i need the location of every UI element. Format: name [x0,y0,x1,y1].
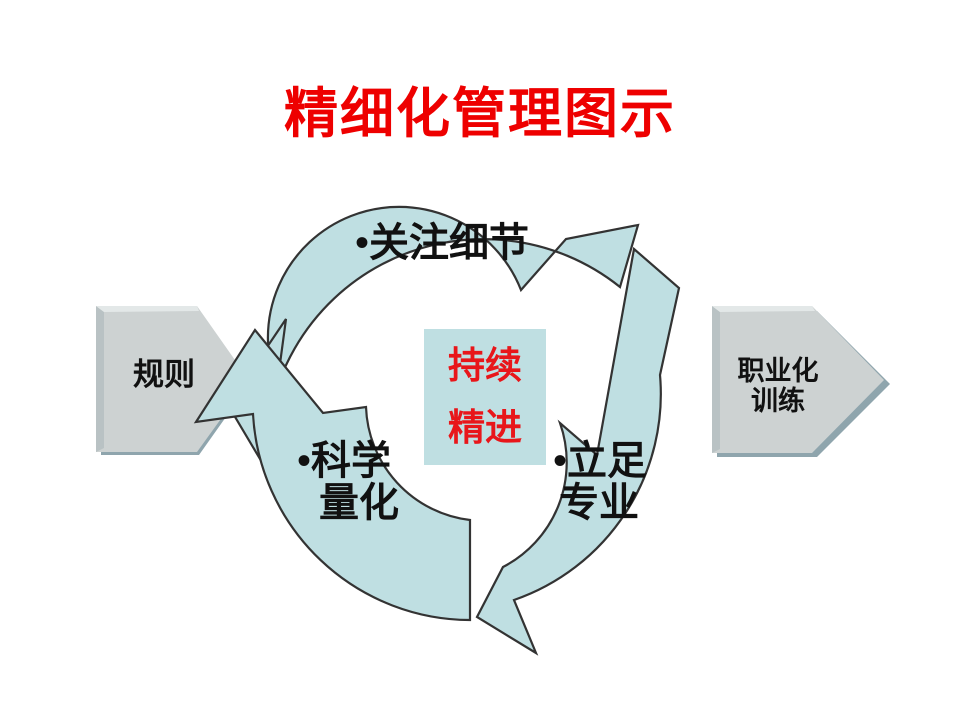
pentagon-left-top-edge [96,306,199,312]
cycle-label-focus-detail-text: 关注细节 [369,220,529,265]
pentagon-left-label: 规则 [104,358,224,393]
pentagon-left-bevel [96,306,104,452]
pentagon-right-line2: 训练 [751,386,805,416]
pentagon-right-label: 职业化 训练 [714,356,842,416]
cycle-label-based-on-profession: •立足 专业 [553,440,647,523]
pentagon-right-top-edge [712,306,815,312]
cycle-label-prof-line1: 立足 [567,438,647,483]
bullet-icon: • [297,438,311,483]
center-box-line1: 持续 [448,348,522,385]
bullet-icon: • [553,438,567,483]
bullet-icon: • [355,220,369,265]
cycle-label-sci-line1: 科学 [311,438,391,483]
cycle-label-sci-line2: 量化 [297,482,399,524]
center-box: 持续 精进 [424,329,546,465]
cycle-label-prof-line2: 专业 [553,482,647,524]
center-box-line2: 精进 [448,410,522,447]
cycle-label-focus-detail: •关注细节 [355,222,529,264]
cycle-label-scientific-quantification: •科学 量化 [297,440,399,523]
pentagon-left-line1: 规则 [133,357,195,392]
pentagon-right-line1: 职业化 [738,356,819,386]
slide-canvas: 精细化管理图示 [0,0,960,720]
